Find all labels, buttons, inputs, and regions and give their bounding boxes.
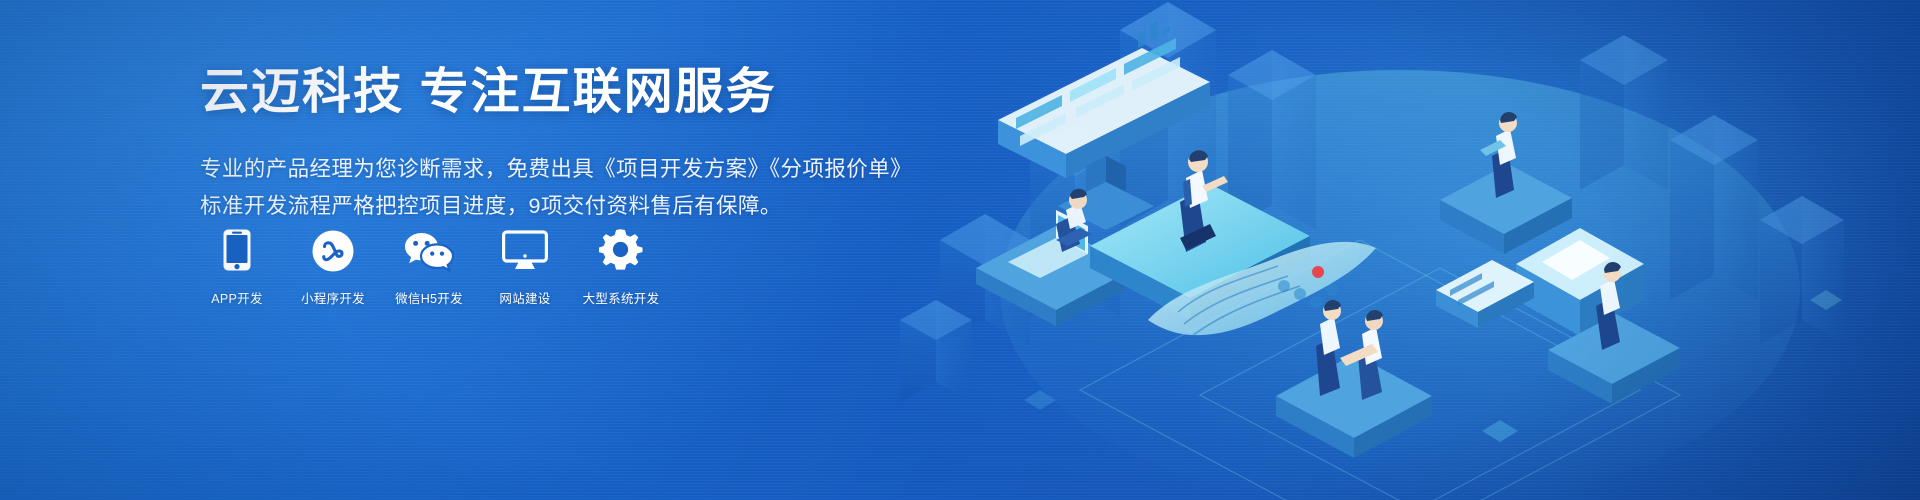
service-label: 微信H5开发: [395, 288, 463, 307]
service-item-miniprogram[interactable]: 小程序开发: [296, 226, 370, 307]
service-item-app[interactable]: APP开发: [200, 226, 274, 307]
service-label: APP开发: [211, 288, 263, 307]
service-label: 网站建设: [499, 288, 550, 307]
subtitle-line-2: 标准开发流程严格把控项目进度，9项交付资料售后有保障。: [200, 188, 1100, 225]
service-list: APP开发 小程序开发 微信: [200, 226, 680, 307]
mobile-phone-icon: [222, 226, 252, 272]
gear-icon: [599, 226, 643, 272]
mini-program-icon: [312, 226, 354, 272]
subtitle-line-1: 专业的产品经理为您诊断需求，免费出具《项目开发方案》《分项报价单》: [200, 151, 1100, 188]
subtitle-block: 专业的产品经理为您诊断需求，免费出具《项目开发方案》《分项报价单》 标准开发流程…: [200, 151, 1100, 225]
service-item-website[interactable]: 网站建设: [488, 226, 562, 307]
wechat-icon: [403, 226, 455, 272]
service-item-wechat-h5[interactable]: 微信H5开发: [392, 226, 466, 307]
service-item-large-system[interactable]: 大型系统开发: [584, 226, 658, 307]
page-title: 云迈科技 专注互联网服务: [200, 66, 1100, 119]
hero-banner: 云迈科技 专注互联网服务 专业的产品经理为您诊断需求，免费出具《项目开发方案》《…: [0, 0, 1920, 500]
service-label: 大型系统开发: [583, 288, 660, 307]
service-label: 小程序开发: [301, 288, 365, 307]
monitor-icon: [502, 226, 548, 272]
hero-copy: 云迈科技 专注互联网服务 专业的产品经理为您诊断需求，免费出具《项目开发方案》《…: [200, 66, 1100, 225]
